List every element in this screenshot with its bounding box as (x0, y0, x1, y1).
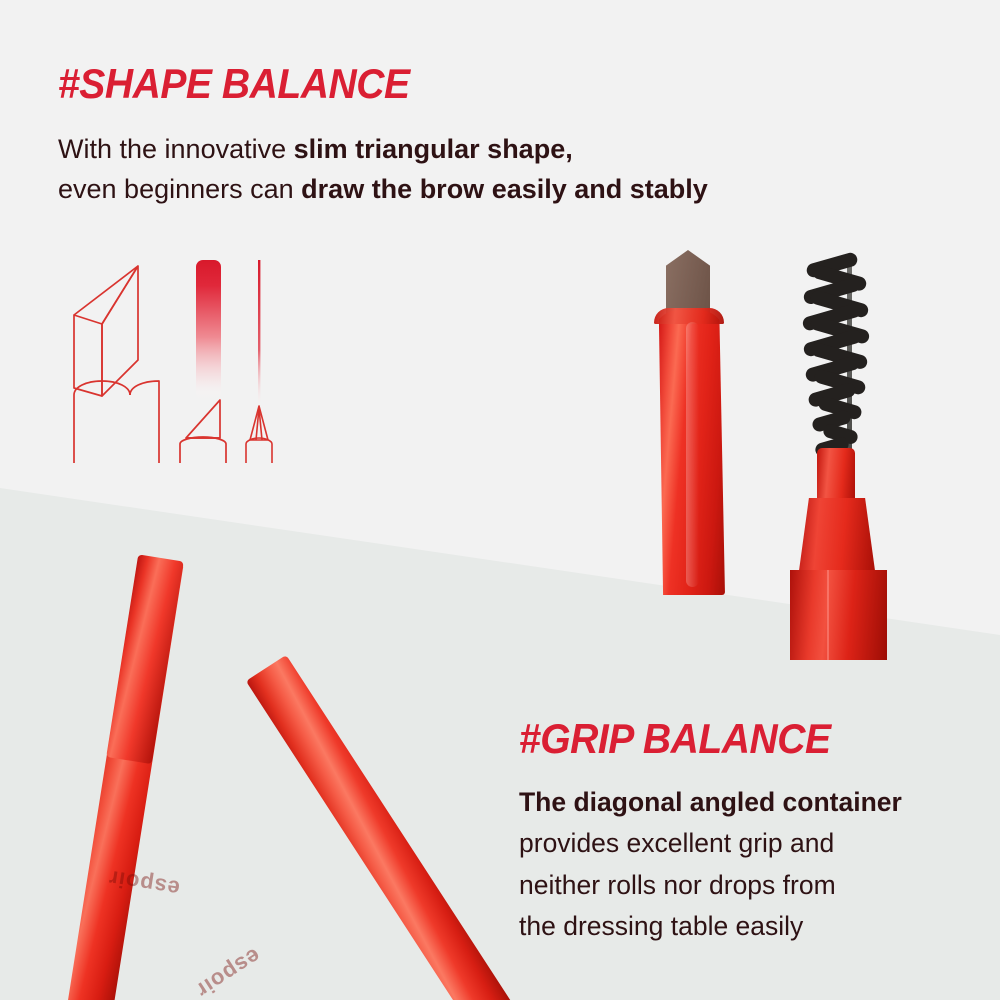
shape-body-line-1-bold: slim triangular shape, (294, 134, 573, 164)
grip-body-line-1-bold: The diagonal angled container (519, 787, 902, 817)
two-red-pencils-photo: espoir espoir (20, 540, 460, 1000)
shape-balance-body: With the innovative slim triangular shap… (58, 130, 708, 210)
spoolie-shoulder (798, 498, 876, 578)
pencil-red-barrel (653, 310, 725, 595)
pencil-collar (654, 308, 724, 324)
marketing-image-canvas: #SHAPE BALANCE With the innovative slim … (0, 0, 1000, 1000)
red-eyebrow-pencil-photo (640, 250, 750, 595)
spoolie-neck (817, 448, 855, 506)
shape-body-line-1-normal: With the innovative (58, 134, 294, 164)
grip-balance-heading: #GRIP BALANCE (519, 718, 831, 760)
diagram-view-side-profile (246, 260, 272, 463)
pencil-tip-line-art-diagram (60, 248, 310, 463)
spoolie-brush-photo (785, 258, 930, 618)
spoolie-bristle-head (803, 258, 869, 458)
diagram-view-front-gradient (180, 260, 226, 463)
shape-body-line-2-normal: even beginners can (58, 174, 301, 204)
pencil-right-brand-emboss: espoir (191, 942, 266, 1000)
grip-balance-body: The diagonal angled container provides e… (519, 782, 902, 947)
shape-body-line-2-bold: draw the brow easily and stably (301, 174, 708, 204)
grip-body-line-3: neither rolls nor drops from (519, 865, 902, 906)
grip-body-line-1: The diagonal angled container (519, 782, 902, 823)
pencil-left-cap (106, 554, 184, 764)
grip-body-line-2: provides excellent grip and (519, 823, 902, 864)
grip-body-line-4: the dressing table easily (519, 906, 902, 947)
shape-balance-heading: #SHAPE BALANCE (58, 63, 410, 105)
spoolie-base-container (790, 570, 887, 660)
shape-body-line-1: With the innovative slim triangular shap… (58, 130, 708, 170)
shape-body-line-2: even beginners can draw the brow easily … (58, 170, 708, 210)
diagram-view-angled-3d (74, 266, 159, 463)
